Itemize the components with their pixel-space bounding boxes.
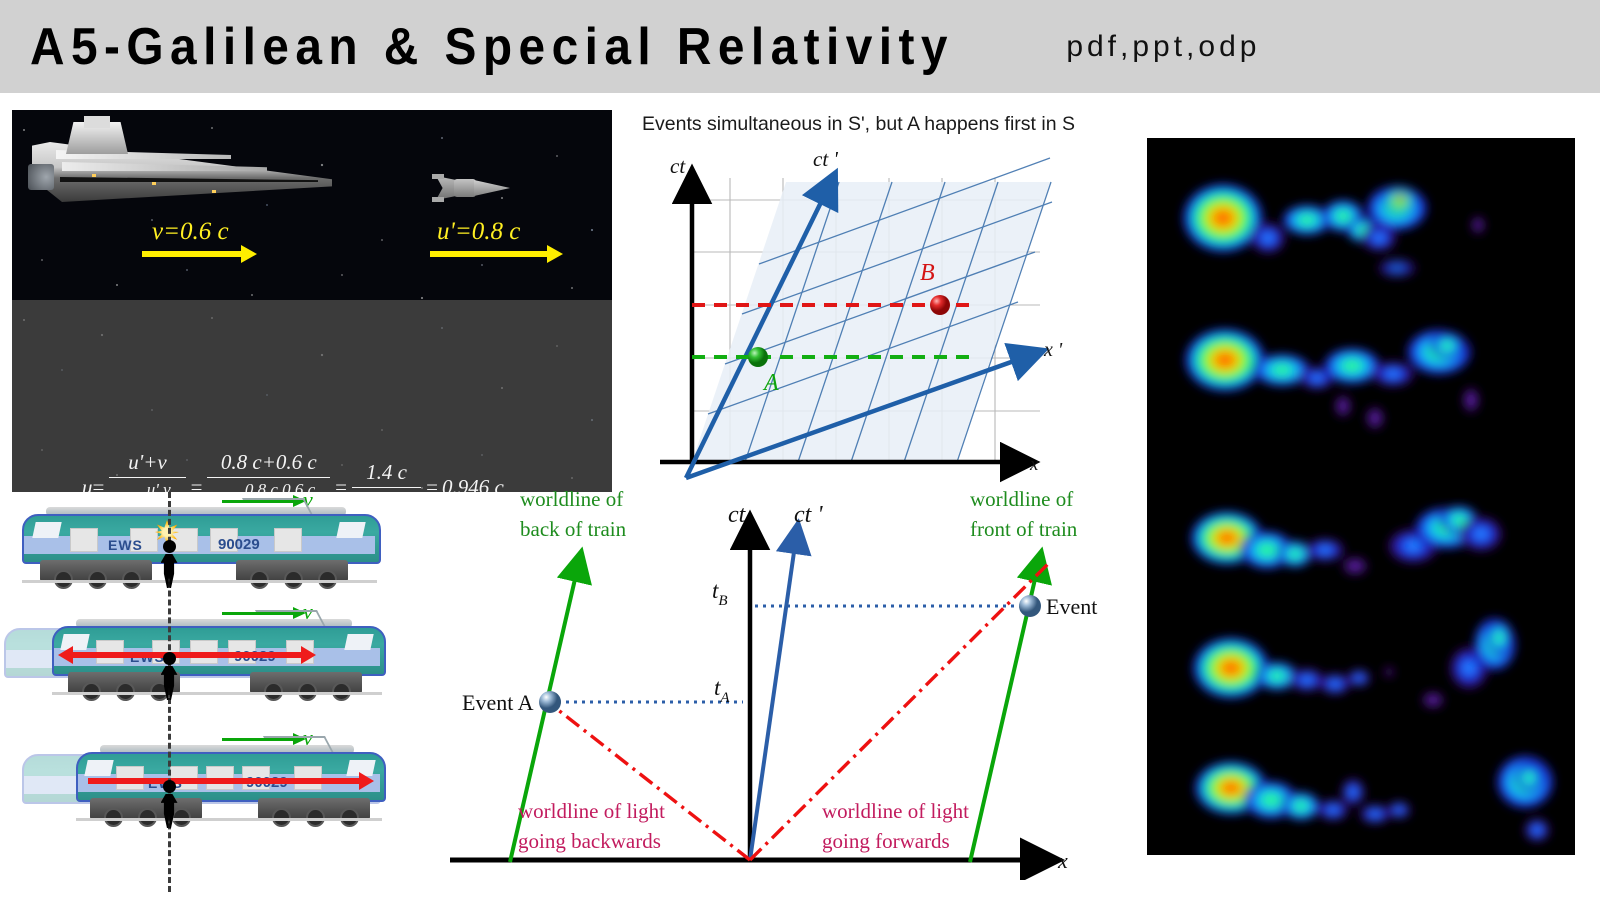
- light-forwards-label-line2: going forwards: [822, 829, 950, 853]
- x-axis-label: x: [1029, 454, 1039, 475]
- frame1-brand: EWS: [108, 537, 143, 553]
- formula-f1-numerator: u'+v: [123, 450, 171, 477]
- primed-frame-region: [692, 182, 1050, 462]
- formula-f1-den-num: u' v: [142, 480, 176, 492]
- train-frame-2: v EWS 90029: [0, 604, 400, 716]
- missile-velocity-label: u'=0.8 c: [437, 218, 520, 246]
- observer-figure: [157, 652, 181, 700]
- page-header: A5-Galilean & Special Relativity pdf,ppt…: [0, 0, 1600, 93]
- star-destroyer-icon: [32, 122, 332, 232]
- light-forwards-label-line1: worldline of light: [822, 799, 969, 823]
- missile-velocity-arrow: [430, 251, 548, 257]
- train-event-b-label: Event B: [1046, 594, 1100, 619]
- download-formats-label[interactable]: pdf,ppt,odp: [1066, 30, 1260, 64]
- frame3-light-forward-arrow: [88, 778, 360, 784]
- observer-figure: [157, 780, 181, 828]
- time-a-label: tA: [714, 675, 730, 706]
- train-event-a-marker[interactable]: [539, 691, 561, 713]
- train-event-a-label: Event A: [462, 690, 534, 715]
- frame1-locomotive: EWS 90029: [22, 514, 377, 582]
- x-prime-axis-label: x ': [1043, 339, 1063, 361]
- small-spaceship-icon: [432, 174, 510, 202]
- event-b-marker[interactable]: [930, 295, 950, 315]
- formula-fraction-3: 1.4 c 1+0.48: [352, 460, 421, 492]
- train-ct-prime-axis: [750, 538, 796, 860]
- frame2-light-both-directions-arrow: [72, 652, 302, 658]
- train-x-axis-label: x: [1057, 848, 1068, 873]
- page-title: A5-Galilean & Special Relativity: [30, 17, 954, 77]
- train-frame-1: v EWS 90029: [0, 492, 400, 604]
- formula-equals-4: =: [426, 475, 438, 492]
- ship-velocity-label: v=0.6 c: [152, 218, 229, 246]
- formula-f3-numerator: 1.4 c: [361, 460, 412, 487]
- worldline-front-label-line2: front of train: [970, 517, 1078, 541]
- velocity-addition-image: v=0.6 c u'=0.8 c u = u'+v 1+ u' v c2 = 0…: [12, 110, 612, 492]
- train-thought-experiment-panels: v EWS 90029 v: [0, 492, 420, 892]
- light-backwards-label-line2: going backwards: [518, 829, 661, 853]
- ct-prime-axis-label: ct ': [813, 147, 838, 171]
- formula-lhs: u: [82, 475, 93, 492]
- light-backwards-label-line1: worldline of light: [518, 799, 665, 823]
- formula-equals-3: =: [335, 475, 347, 492]
- worldline-back-label-line2: back of train: [520, 517, 627, 541]
- minkowski-diagram-simultaneity: ct x ct ' x ' B A: [620, 140, 1100, 500]
- formula-equals-1: =: [93, 475, 105, 492]
- frame3-locomotive: EWS 90029: [76, 752, 382, 820]
- radio-galaxy-heatmap: [1147, 138, 1575, 855]
- observer-figure: [157, 540, 181, 588]
- formula-equals-2: =: [191, 475, 203, 492]
- event-a-label: A: [762, 370, 779, 396]
- minkowski-diagram-train-events: x ct ct ' Event A Event B tA tB worldlin…: [440, 480, 1100, 880]
- minkowski-caption: Events simultaneous in S', but A happens…: [642, 113, 1075, 136]
- formula-fraction-1: u'+v 1+ u' v c2: [109, 450, 185, 492]
- frame2-locomotive: EWS 90029: [52, 626, 382, 694]
- ship-velocity-arrow: [142, 251, 242, 257]
- formula-fraction-2: 0.8 c+0.6 c 1+ 0.8 c 0.6 c c2: [207, 450, 330, 492]
- event-a-marker[interactable]: [748, 347, 768, 367]
- time-b-label: tB: [712, 578, 728, 609]
- train-event-b-marker[interactable]: [1019, 595, 1041, 617]
- train-ct-prime-axis-label: ct ': [794, 502, 823, 528]
- event-b-label: B: [920, 260, 935, 286]
- worldline-front-label-line1: worldline of: [970, 487, 1073, 511]
- train-ct-axis-label: ct: [728, 502, 747, 528]
- formula-f1-denominator: 1+ u' v c2: [109, 477, 185, 492]
- worldline-back-label-line1: worldline of: [520, 487, 623, 511]
- frame1-number: 90029: [218, 536, 260, 553]
- ct-axis-label: ct: [670, 154, 686, 178]
- formula-f2-numerator: 0.8 c+0.6 c: [216, 450, 322, 477]
- train-frame-3: v EWS 90029: [0, 730, 400, 842]
